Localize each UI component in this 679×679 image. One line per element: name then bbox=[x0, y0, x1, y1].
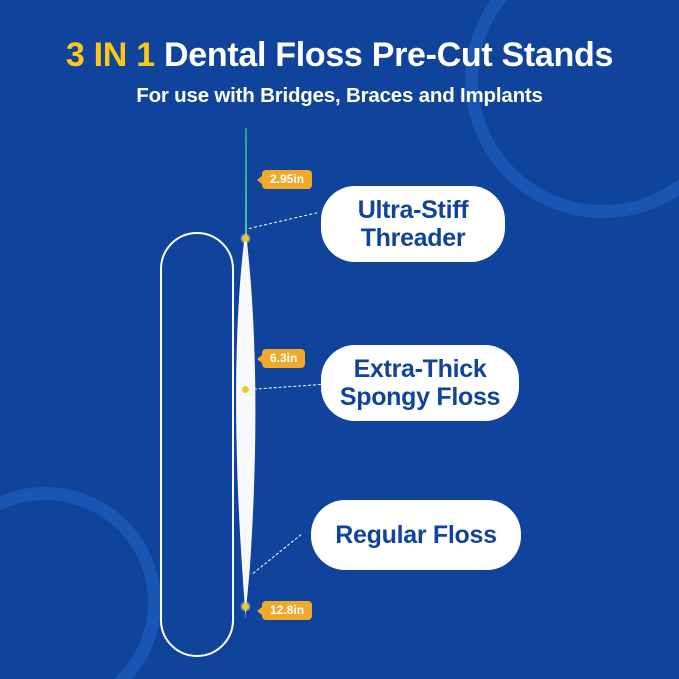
threader-strand-illustration bbox=[245, 128, 247, 240]
measurement-node-spongy bbox=[242, 386, 249, 393]
callout-2-line-1: Extra-Thick bbox=[340, 355, 500, 383]
callout-extra-thick-spongy-floss: Extra-Thick Spongy Floss bbox=[321, 345, 519, 421]
page-subtitle: For use with Bridges, Braces and Implant… bbox=[0, 84, 679, 108]
decorative-arc-top-right bbox=[465, 0, 679, 218]
decorative-arc-bottom-left bbox=[0, 487, 161, 679]
measurement-node-total bbox=[242, 603, 249, 610]
page-title: 3 IN 1 Dental Floss Pre-Cut Stands bbox=[0, 36, 679, 75]
title-rest: Dental Floss Pre-Cut Stands bbox=[164, 36, 613, 74]
title-highlight: 3 IN 1 bbox=[66, 36, 155, 74]
measurement-tag-total: 12.8in bbox=[262, 601, 312, 620]
callout-regular-floss: Regular Floss bbox=[311, 500, 521, 570]
measurement-tag-spongy: 6.3in bbox=[262, 349, 305, 368]
callout-3-line-1: Regular Floss bbox=[335, 521, 496, 549]
product-infographic: 3 IN 1 Dental Floss Pre-Cut Stands For u… bbox=[0, 0, 679, 679]
measurement-node-threader bbox=[242, 235, 249, 242]
callout-ultra-stiff-threader: Ultra-Stiff Threader bbox=[321, 186, 505, 262]
callout-1-line-2: Threader bbox=[358, 224, 469, 252]
leader-line-threader bbox=[249, 212, 317, 229]
callout-1-line-1: Ultra-Stiff bbox=[358, 196, 469, 224]
floss-loop-illustration bbox=[160, 232, 234, 657]
measurement-tag-threader: 2.95in bbox=[262, 170, 312, 189]
floss-strand-illustration bbox=[229, 236, 263, 618]
callout-2-line-2: Spongy Floss bbox=[340, 383, 500, 411]
